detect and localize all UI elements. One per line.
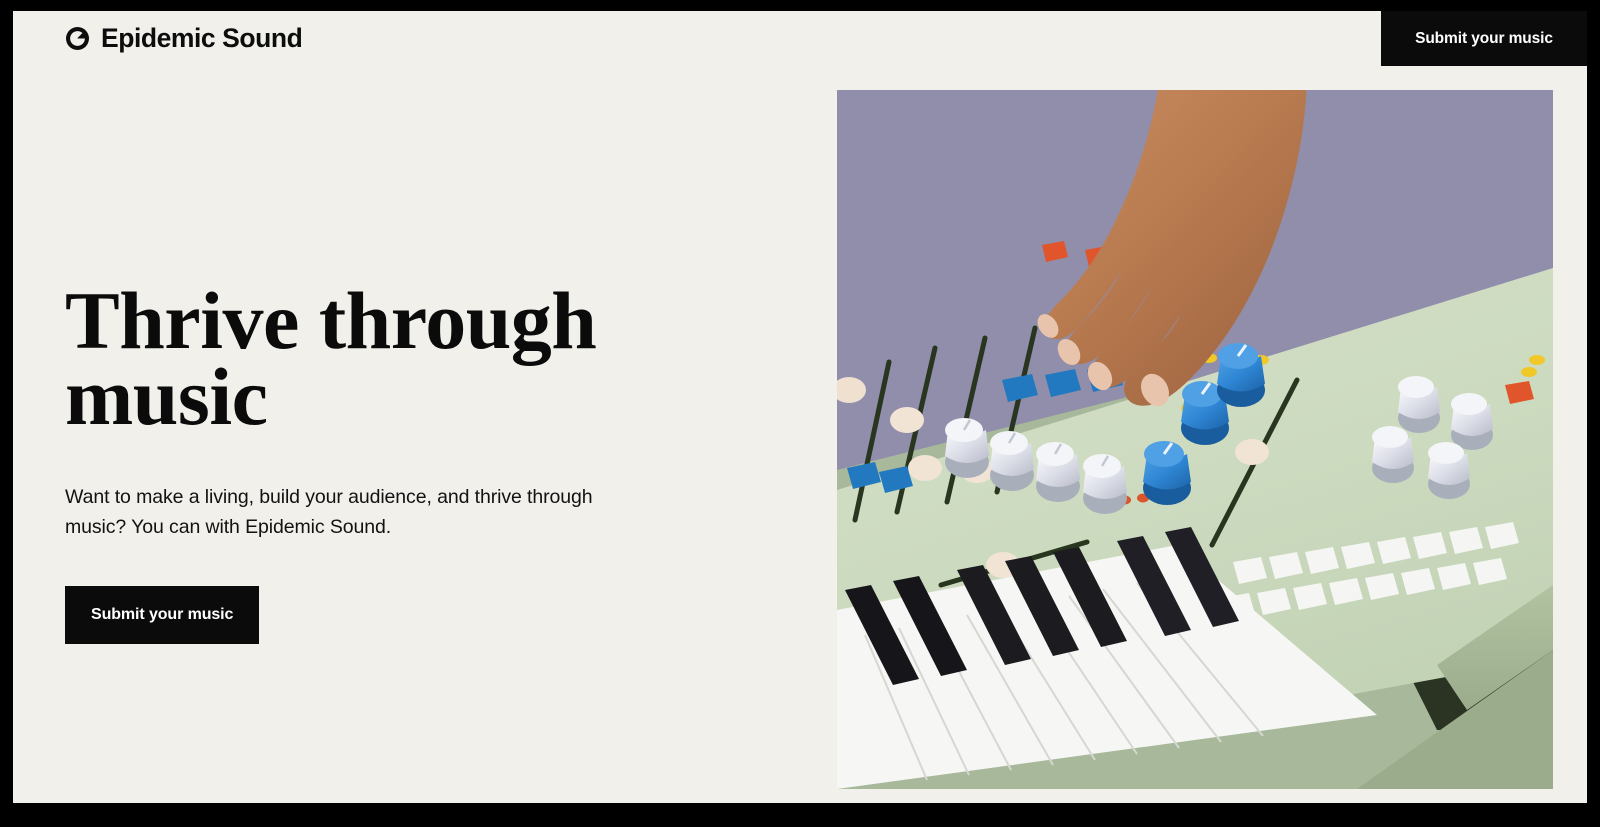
page-title: Thrive through music	[65, 283, 705, 436]
header-submit-music-button[interactable]: Submit your music	[1381, 11, 1587, 66]
hero-image-synthesizer	[837, 90, 1553, 789]
yellow-indicator-dot	[1521, 367, 1537, 377]
fader-cap	[908, 455, 942, 481]
page-viewport: Epidemic Sound Submit your music Thrive …	[13, 11, 1587, 803]
epidemic-sound-circle-mark	[65, 26, 90, 51]
brand-name: Epidemic Sound	[101, 25, 302, 52]
page-title-line-2: music	[65, 351, 268, 442]
fader-cap	[890, 407, 924, 433]
hero-copy: Thrive through music Want to make a livi…	[65, 283, 705, 644]
fader-cap	[1235, 439, 1269, 465]
hero-submit-music-button[interactable]: Submit your music	[65, 586, 259, 644]
brand-logo-link[interactable]: Epidemic Sound	[65, 25, 302, 52]
hero-subtitle: Want to make a living, build your audien…	[65, 482, 655, 542]
yellow-indicator-dot	[1529, 355, 1545, 365]
synthesizer-illustration	[837, 90, 1553, 789]
site-header: Epidemic Sound Submit your music	[13, 11, 1587, 91]
